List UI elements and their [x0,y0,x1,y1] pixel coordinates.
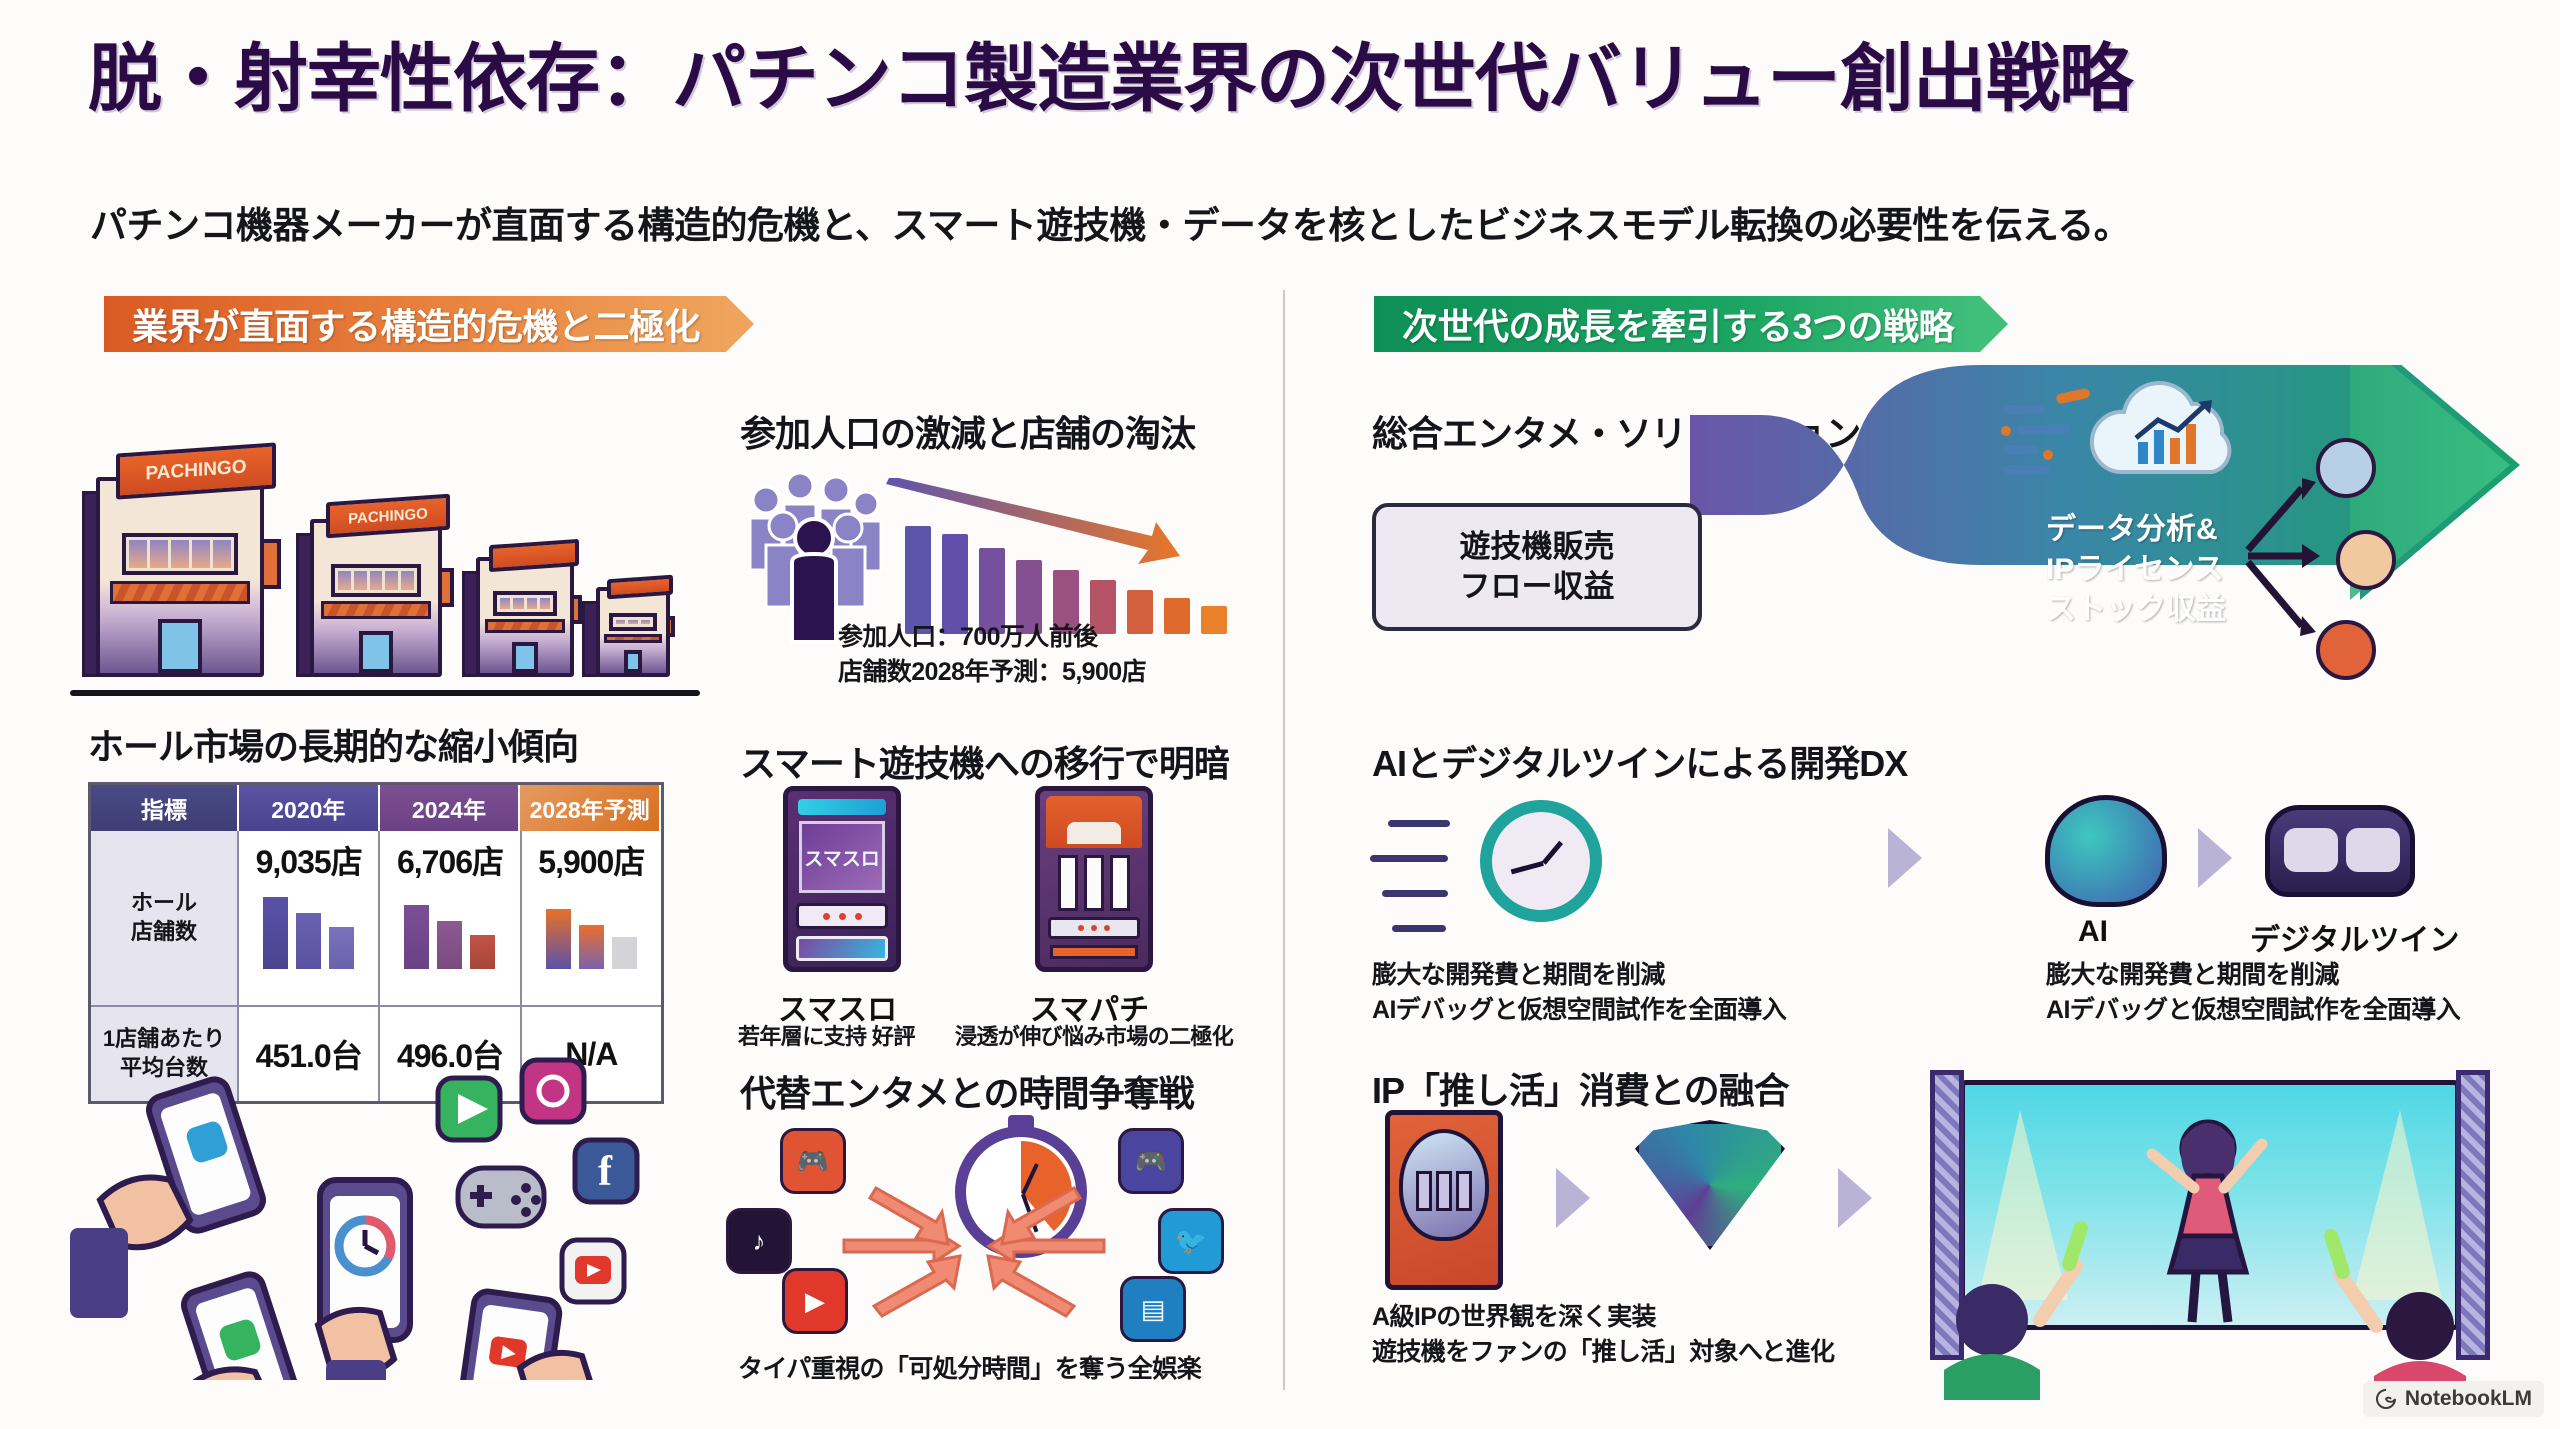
right-banner-label: 次世代の成長を牽引する3つの戦略 [1402,298,1954,350]
svg-text:f: f [598,1149,613,1195]
watermark-label: NotebookLM [2405,1387,2532,1411]
infographic-page: 脱・射幸性依存：パチンコ製造業界の次世代バリュー創出戦略 パチンコ機器メーカーが… [0,0,2560,1429]
table-row: ホール店舗数 9,035店 6,706店 5,900店 [91,831,661,1007]
population-note-line1: 参加人口：700万人前後 [838,623,1098,651]
table-cell-value: 5,900店 [538,837,644,883]
clock-icon [1480,800,1602,922]
idol-performer [2152,1122,2262,1322]
concert-stage-illustration [1900,1070,2520,1400]
storefront-sign-label: PACHINGO [326,493,450,538]
avatar-connector-arrows [2240,430,2330,670]
left-section-banner: 業界が直面する構造的危機と二極化 [104,296,726,352]
table-cell: 5,900店 [522,831,661,1005]
chevron-right-icon [1556,1168,1590,1228]
ip-caption: A級IPの世界観を深く実装 遊技機をファンの「推し活」対象へと進化 [1372,1300,1834,1369]
ai-dx-right-line2: AIデバッグと仮想空間試作を全面導入 [2046,996,2460,1024]
ai-dx-right-line1: 膨大な開発費と期間を削減 [2046,961,2339,989]
chevron-right-icon [1888,828,1922,888]
table-cell: 9,035店 [239,831,380,1005]
chevron-right-icon [1838,1168,1872,1228]
brain-ai-icon [2045,795,2167,907]
ai-dx-heading: AIとデジタルツインによる開発DX [1372,735,1907,787]
table-row-label: ホール店舗数 [91,831,239,1005]
avatar [2336,530,2396,590]
shrinking-storefronts-illustration: PACHINGO PACHINGO [78,455,678,685]
ai-dx-left-line1: 膨大な開発費と期間を削減 [1372,961,1665,989]
ai-dx-left-line2: AIデバッグと仮想空間試作を全面導入 [1372,996,1786,1024]
population-note: 参加人口：700万人前後 店舗数2028年予測：5,900店 [838,620,1146,689]
right-section-banner: 次世代の成長を牽引する3つの戦略 [1374,296,1980,352]
storefront-icon: PACHINGO [310,519,442,677]
flow-line1: 遊技機販売 [1460,527,1615,567]
table-col-header: 指標 [91,785,239,831]
pachinko-machine-icon [1385,1110,1503,1290]
ip-heading: IP「推し活」消費との融合 [1372,1062,1789,1114]
storefront-icon [596,587,670,677]
speed-line [1388,820,1450,827]
ground-line [70,690,700,696]
mini-bar-chart [546,891,637,969]
vr-headset-icon [2265,805,2415,897]
population-heading: 参加人口の激減と店舗の淘汰 [740,405,1195,457]
population-note-line2: 店舗数2028年予測：5,900店 [838,658,1146,686]
table-col-header: 2020年 [239,785,380,831]
table-cell-value: 6,706店 [397,837,503,883]
storefront-icon: PACHINGO [96,477,264,677]
stock-line1: データ分析& [2046,513,2218,546]
stock-line3: ストック収益 [2046,593,2226,626]
decline-arrow-icon [880,478,1190,588]
ai-dx-left-caption: 膨大な開発費と期間を削減 AIデバッグと仮想空間試作を全面導入 [1372,958,1786,1027]
stock-revenue-text: データ分析& IPライセンス ストック収益 [2046,510,2226,631]
smaslo-screen-label: スマスロ [799,821,885,893]
speed-line [1392,925,1446,932]
table-cell-value: 9,035店 [256,837,362,883]
idol-fan-icon [1635,1120,1785,1250]
storefront-sign-label: PACHINGO [116,443,276,500]
chevron-right-icon [2198,828,2232,888]
digital-twin-label: デジタルツイン [2250,915,2459,959]
table-col-header: 2024年 [380,785,521,831]
table-cell: 6,706店 [380,831,521,1005]
page-title: 脱・射幸性依存：パチンコ製造業界の次世代バリュー創出戦略 [88,38,2488,121]
flow-line2: フロー収益 [1460,567,1615,607]
stock-line2: IPライセンス [2046,553,2224,586]
mini-bar-chart [263,891,354,969]
notebooklm-logo-icon [2375,1388,2397,1410]
smaslo-machine-icon: スマスロ [783,786,901,972]
smart-machine-heading: スマート遊技機への移行で明暗 [740,735,1229,787]
smartphone-usage-illustration: f [70,1050,690,1380]
mini-bar-chart [404,891,495,969]
time-competition-arrows [724,1110,1224,1370]
storefront-icon [476,557,574,677]
speed-line [1382,890,1448,897]
ip-caption-line2: 遊技機をファンの「推し活」対象へと進化 [1372,1338,1834,1366]
social-bubble-group: f [438,1060,637,1302]
ip-caption-line1: A級IPの世界観を深く実装 [1372,1303,1656,1331]
flow-revenue-box: 遊技機販売 フロー収益 [1372,503,1702,631]
page-subtitle: パチンコ機器メーカーが直面する構造的危機と、スマート遊技機・データを核としたビジ… [90,195,2470,249]
smapachi-caption: 浸透が伸び悩み市場の二極化 [955,1022,1233,1052]
market-shrink-heading: ホール市場の長期的な縮小傾向 [88,718,578,770]
smaslo-caption: 若年層に支持 好評 [738,1022,915,1052]
speed-line [1370,855,1448,862]
table-col-header: 2028年予測 [520,785,661,831]
notebooklm-watermark: NotebookLM [2363,1381,2544,1417]
table-header-row: 指標 2020年 2024年 2028年予測 [91,785,661,831]
column-divider [1283,290,1285,1390]
instagram-icon [522,1060,584,1122]
data-dashes-icon [2000,385,2110,495]
time-war-caption: タイパ重視の「可処分時間」を奪う全娯楽 [738,1352,1201,1387]
left-banner-label: 業界が直面する構造的危機と二極化 [132,298,700,350]
game-controller-icon [458,1168,544,1226]
smapachi-machine-icon [1035,786,1153,972]
ai-label: AI [2078,915,2108,949]
ai-dx-right-caption: 膨大な開発費と期間を削減 AIデバッグと仮想空間試作を全面導入 [2046,958,2460,1027]
